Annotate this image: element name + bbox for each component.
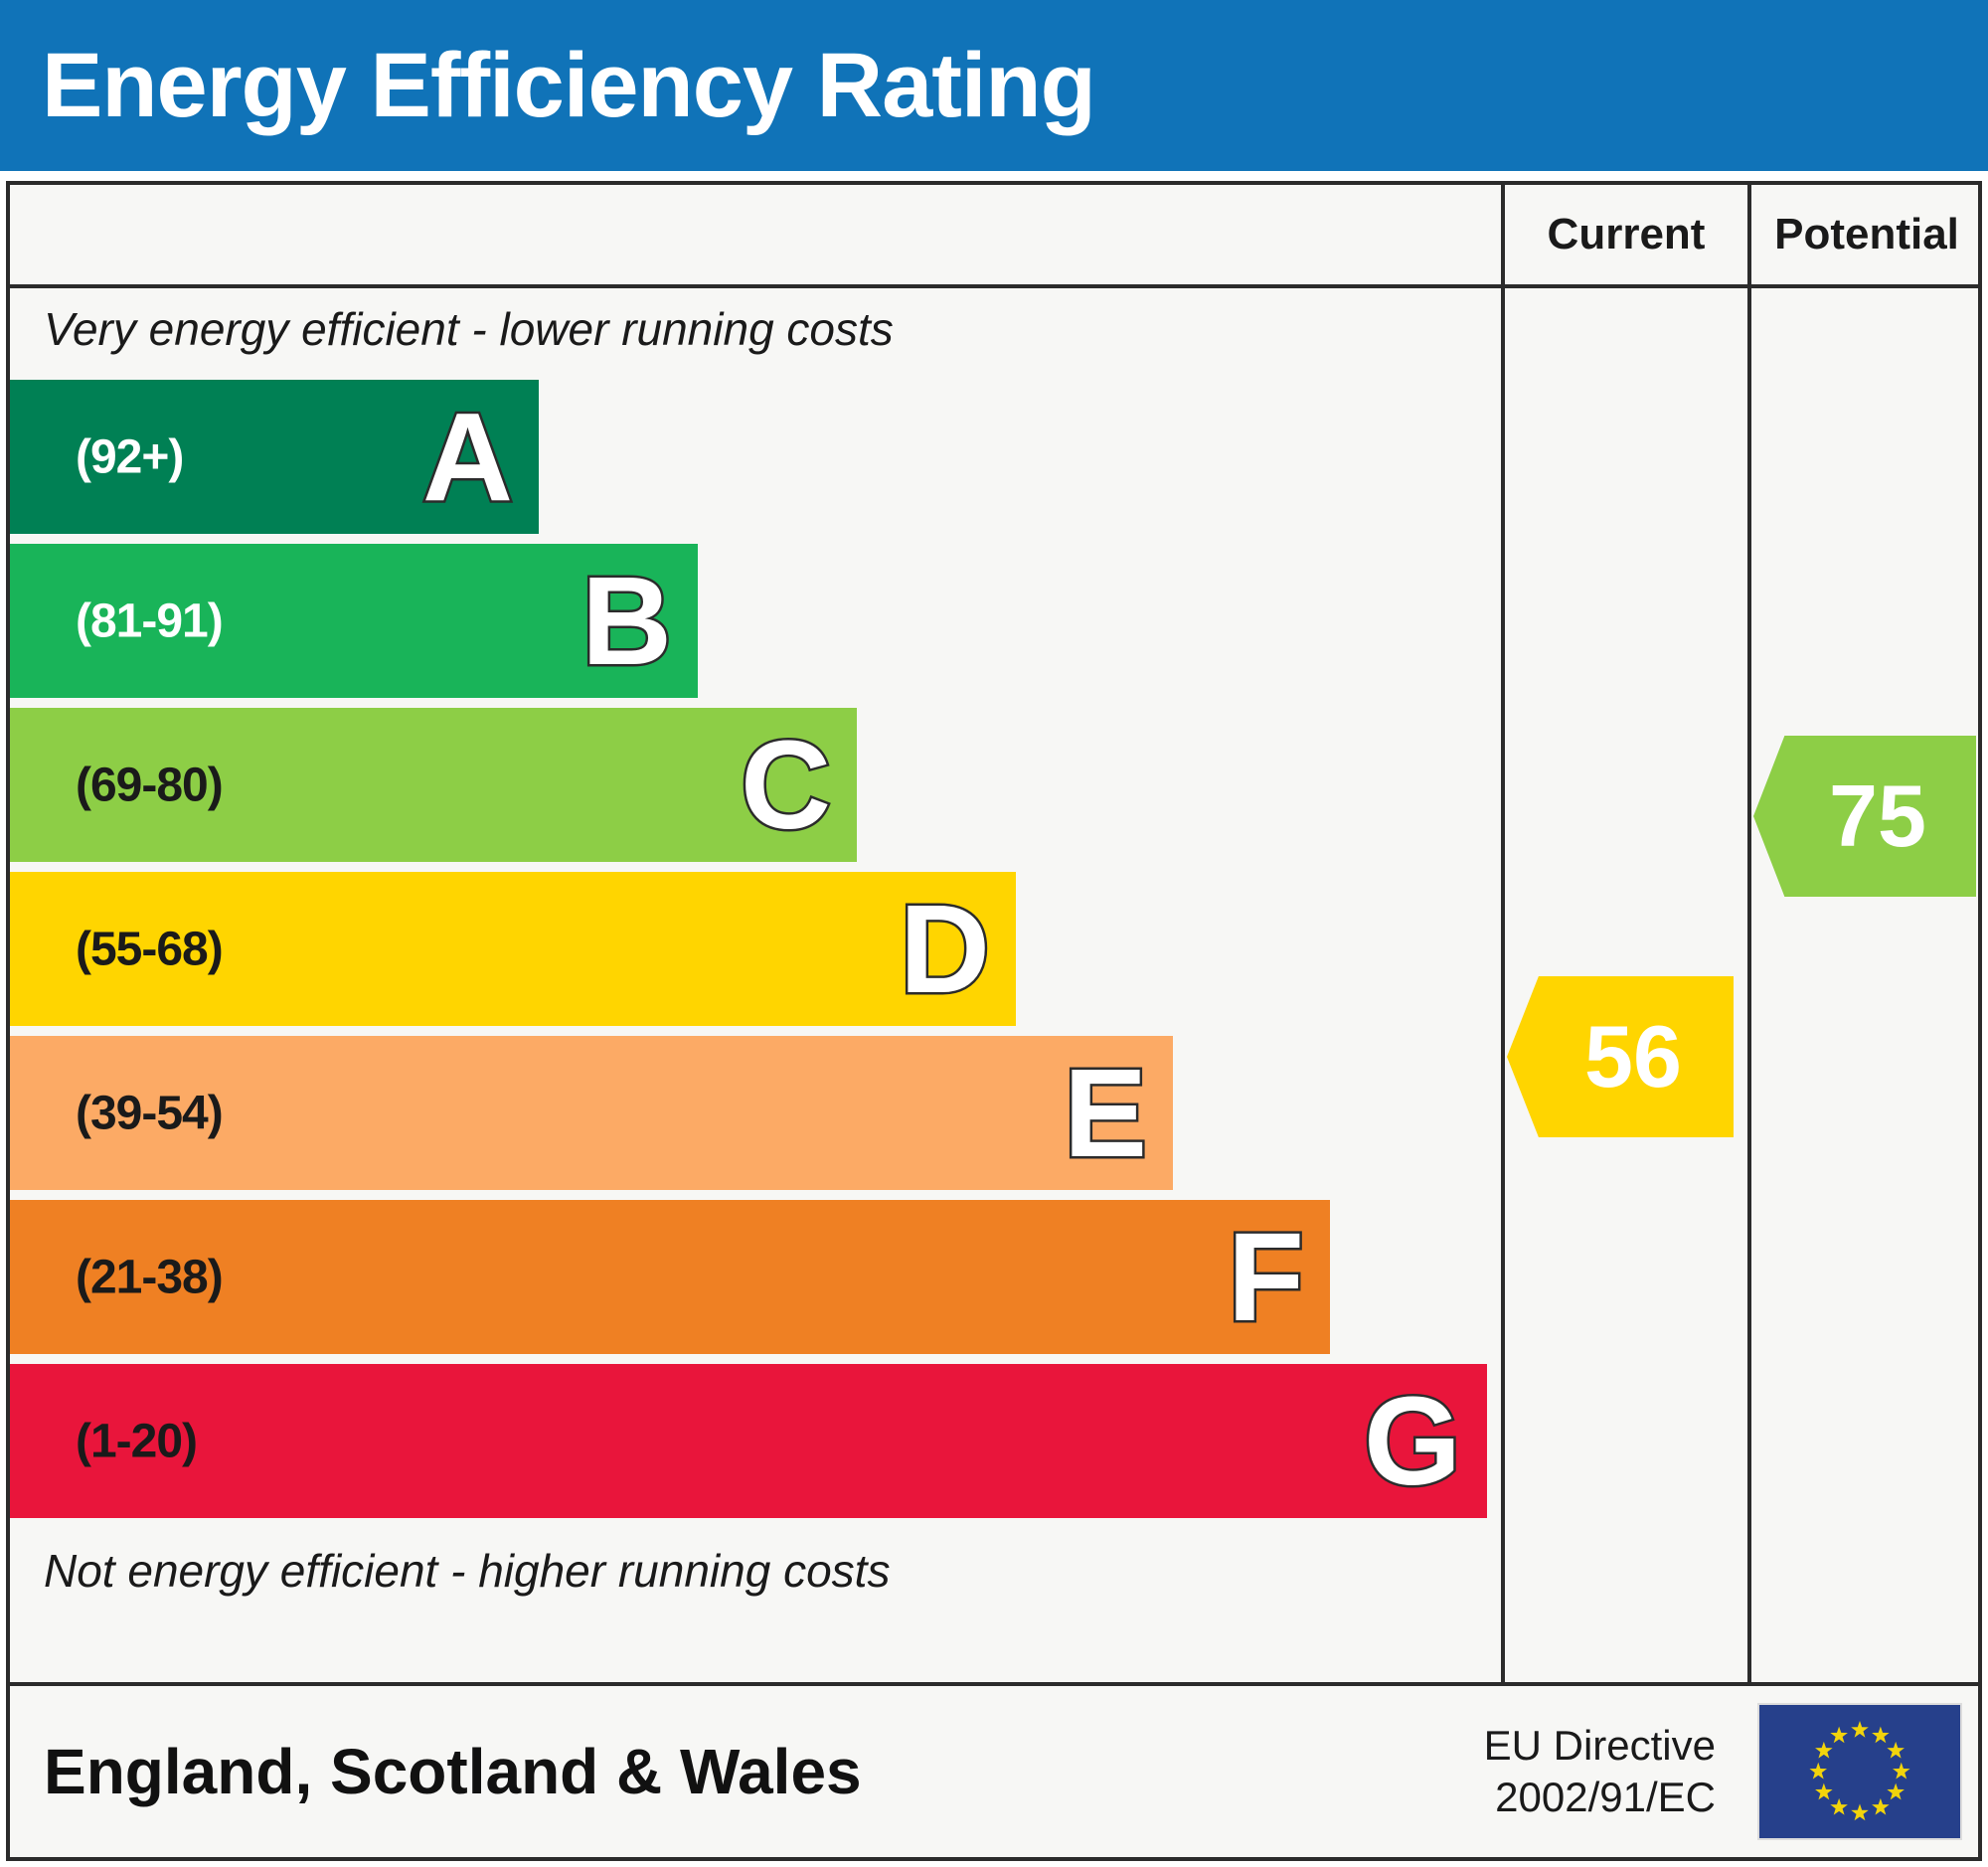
directive-line-1: EU Directive bbox=[1484, 1720, 1716, 1772]
band-row-f: (21-38) F bbox=[10, 1200, 1330, 1354]
band-row-e: (39-54) E bbox=[10, 1036, 1173, 1190]
eu-stars bbox=[1759, 1705, 1960, 1838]
page-title: Energy Efficiency Rating bbox=[42, 26, 1095, 145]
band-range-f: (21-38) bbox=[76, 1250, 223, 1304]
band-range-e: (39-54) bbox=[76, 1086, 223, 1140]
band-row-b: (81-91) B bbox=[10, 544, 698, 698]
band-row-g: (1-20) G bbox=[10, 1364, 1487, 1518]
caption-very-efficient: Very energy efficient - lower running co… bbox=[44, 302, 894, 356]
column-header-potential: Potential bbox=[1751, 185, 1982, 284]
current-rating-badge: 56 bbox=[1507, 976, 1734, 1137]
caption-not-efficient: Not energy efficient - higher running co… bbox=[44, 1544, 890, 1598]
band-list: (92+) A (81-91) B (69-80) C (55-68) D (3… bbox=[10, 380, 1497, 1528]
band-row-d: (55-68) D bbox=[10, 872, 1016, 1026]
footer-directive: EU Directive 2002/91/EC bbox=[1484, 1720, 1716, 1823]
eu-flag-icon bbox=[1757, 1703, 1962, 1840]
band-letter-a: A bbox=[422, 395, 513, 520]
band-range-b: (81-91) bbox=[76, 594, 223, 648]
band-letter-g: G bbox=[1364, 1379, 1461, 1504]
potential-rating-badge: 75 bbox=[1753, 736, 1976, 897]
band-letter-e: E bbox=[1064, 1051, 1147, 1176]
band-range-d: (55-68) bbox=[76, 922, 223, 976]
column-divider-potential bbox=[1747, 185, 1751, 1682]
band-range-a: (92+) bbox=[76, 429, 183, 484]
band-range-c: (69-80) bbox=[76, 758, 223, 812]
footer-bar: England, Scotland & Wales EU Directive 2… bbox=[6, 1686, 1982, 1861]
band-letter-f: F bbox=[1228, 1215, 1304, 1340]
title-bar: Energy Efficiency Rating bbox=[0, 0, 1988, 171]
band-letter-b: B bbox=[581, 559, 672, 684]
rating-table: Current Potential Very energy efficient … bbox=[6, 181, 1982, 1686]
directive-line-2: 2002/91/EC bbox=[1484, 1772, 1716, 1823]
footer-region-label: England, Scotland & Wales bbox=[44, 1735, 862, 1808]
column-header-current: Current bbox=[1505, 185, 1747, 284]
header-rule bbox=[10, 284, 1978, 288]
band-row-c: (69-80) C bbox=[10, 708, 857, 862]
band-row-a: (92+) A bbox=[10, 380, 539, 534]
column-divider-current bbox=[1501, 185, 1505, 1682]
band-letter-c: C bbox=[741, 723, 831, 848]
epc-certificate: Energy Efficiency Rating Current Potenti… bbox=[0, 0, 1988, 1867]
band-range-g: (1-20) bbox=[76, 1414, 197, 1468]
band-letter-d: D bbox=[900, 887, 990, 1012]
